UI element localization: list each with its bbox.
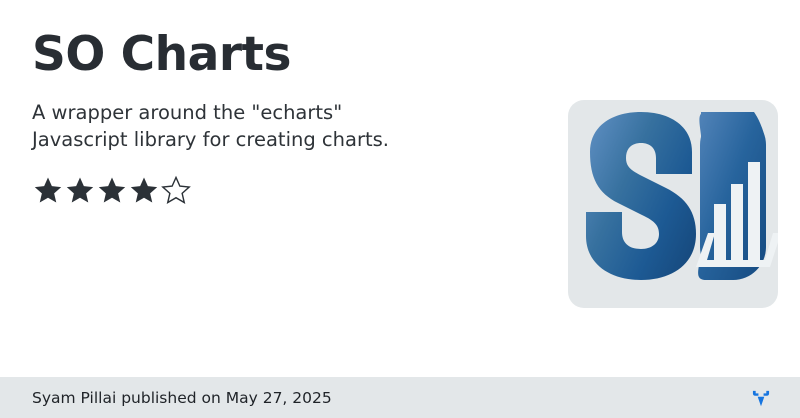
footer-credit: Syam Pillai published on May 27, 2025	[32, 389, 332, 407]
logo-svg	[568, 100, 778, 308]
description: A wrapper around the "echarts" Javascrip…	[32, 99, 532, 154]
brand-logo[interactable]	[750, 385, 776, 411]
description-line-2: Javascript library for creating charts.	[32, 126, 532, 154]
footer-bar: Syam Pillai published on May 27, 2025	[0, 377, 800, 418]
star-filled-icon	[96, 174, 128, 206]
addon-listing-card: SO Charts A wrapper around the "echarts"…	[0, 0, 800, 418]
star-rating[interactable]	[32, 174, 532, 206]
card-content: SO Charts A wrapper around the "echarts"…	[0, 0, 800, 377]
logo-bar-2	[731, 184, 743, 260]
description-line-1: A wrapper around the "echarts"	[32, 99, 532, 127]
star-filled-icon	[128, 174, 160, 206]
so-charts-logo	[568, 100, 778, 308]
page-title: SO Charts	[32, 30, 532, 81]
text-column: SO Charts A wrapper around the "echarts"…	[32, 30, 532, 206]
logo-bar-1	[714, 204, 726, 260]
star-filled-icon	[64, 174, 96, 206]
star-empty-icon	[160, 174, 192, 206]
star-filled-icon	[32, 174, 64, 206]
bull-horns-v-icon	[750, 387, 772, 409]
logo-bar-3	[748, 162, 760, 260]
